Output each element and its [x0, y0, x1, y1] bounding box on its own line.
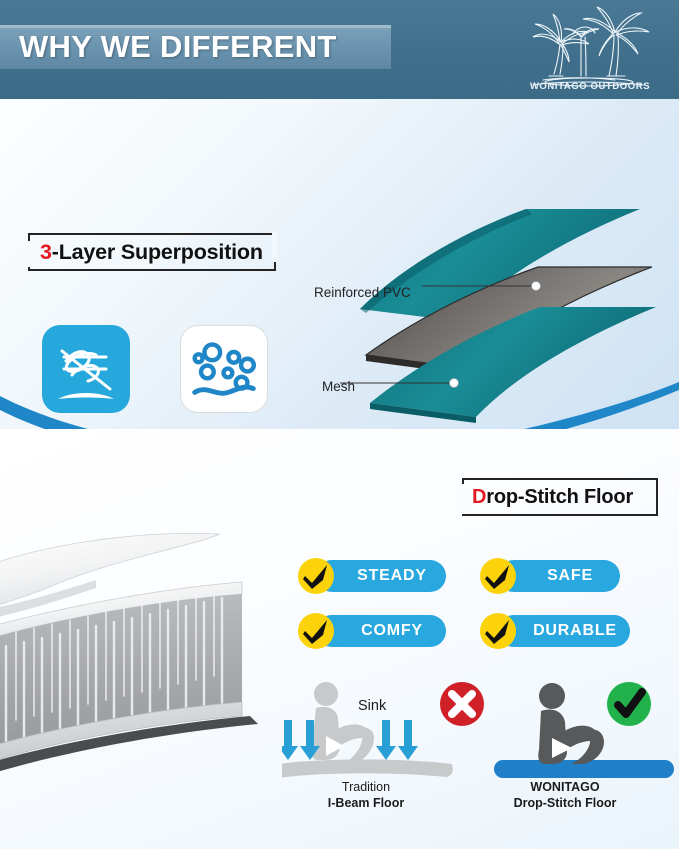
- page-title: WHY WE DIFFERENT: [19, 27, 389, 67]
- heading-accent-letter: D: [472, 486, 486, 509]
- check-icon: [480, 558, 516, 594]
- caption-line-1: Tradition: [286, 779, 446, 795]
- heading-left-gap: [27, 241, 32, 267]
- puncture-needle-crossed-icon: [42, 325, 130, 413]
- layer-diagram-svg: [300, 203, 679, 429]
- three-layer-section: 3-Layer Superposition: [0, 99, 679, 429]
- drop-stitch-svg: [0, 524, 292, 824]
- check-icon: [298, 558, 334, 594]
- layer-diagram: [300, 203, 679, 429]
- green-check-circle-icon: [607, 682, 651, 726]
- caption-line-1: WONITAGO: [470, 779, 660, 795]
- comparison-caption-wonitago: WONITAGO Drop-Stitch Floor: [470, 779, 660, 811]
- comparison-traditional: [282, 682, 484, 778]
- badge-pill: COMFY: [316, 615, 446, 647]
- layer-label-mesh: Mesh: [322, 379, 355, 394]
- layer-label-top-pvc: Reinforced PVC: [314, 285, 411, 300]
- badge-label: STEADY: [316, 560, 446, 592]
- bubbles-water-icon: [181, 326, 267, 412]
- comparison-wonitago: [494, 682, 674, 778]
- brand-name: WONITAGO OUTDOORS: [519, 81, 661, 92]
- brand-logo: WONITAGO OUTDOORS: [519, 6, 661, 94]
- heading-accent-letter: 3: [40, 240, 52, 265]
- check-icon: [298, 613, 334, 649]
- heading-rest-text: rop-Stitch Floor: [486, 486, 633, 509]
- sink-label: Sink: [358, 698, 386, 714]
- badge-safe: SAFE: [480, 560, 620, 592]
- surface-arc: [58, 393, 114, 399]
- badge-check-circle: [298, 613, 334, 649]
- person-sitting-gray-icon: [311, 682, 374, 764]
- feature-card-no-leak: [180, 325, 268, 413]
- caption-line-2: I-Beam Floor: [286, 795, 446, 811]
- page-header: WHY WE DIFFERENT: [0, 0, 679, 102]
- red-x-circle-icon: [440, 682, 484, 726]
- infographic-page: WHY WE DIFFERENT: [0, 0, 679, 849]
- badge-label: DURABLE: [498, 615, 630, 647]
- badge-durable: DURABLE: [480, 615, 630, 647]
- feature-card-puncture-resistant: [42, 325, 130, 413]
- person-sitting-dark-icon: [538, 683, 604, 764]
- caption-line-2: Drop-Stitch Floor: [470, 795, 660, 811]
- badge-pill: DURABLE: [498, 615, 630, 647]
- badge-label: SAFE: [498, 560, 620, 592]
- badge-steady: STEADY: [298, 560, 446, 592]
- heading-right-gap: [272, 232, 277, 262]
- drop-stitch-heading: Drop-Stitch Floor: [462, 478, 658, 516]
- badge-check-circle: [480, 613, 516, 649]
- badge-comfy: COMFY: [298, 615, 446, 647]
- badge-check-circle: [480, 558, 516, 594]
- heading-left-gap: [461, 484, 466, 514]
- drop-stitch-cutaway-illustration: [0, 524, 292, 824]
- badge-pill: SAFE: [498, 560, 620, 592]
- check-icon: [480, 613, 516, 649]
- badge-label: COMFY: [316, 615, 446, 647]
- comparison-caption-traditional: Tradition I-Beam Floor: [286, 779, 446, 811]
- three-layer-heading: 3-Layer Superposition: [28, 233, 276, 271]
- heading-rest-text: -Layer Superposition: [52, 240, 263, 265]
- badge-pill: STEADY: [316, 560, 446, 592]
- badge-check-circle: [298, 558, 334, 594]
